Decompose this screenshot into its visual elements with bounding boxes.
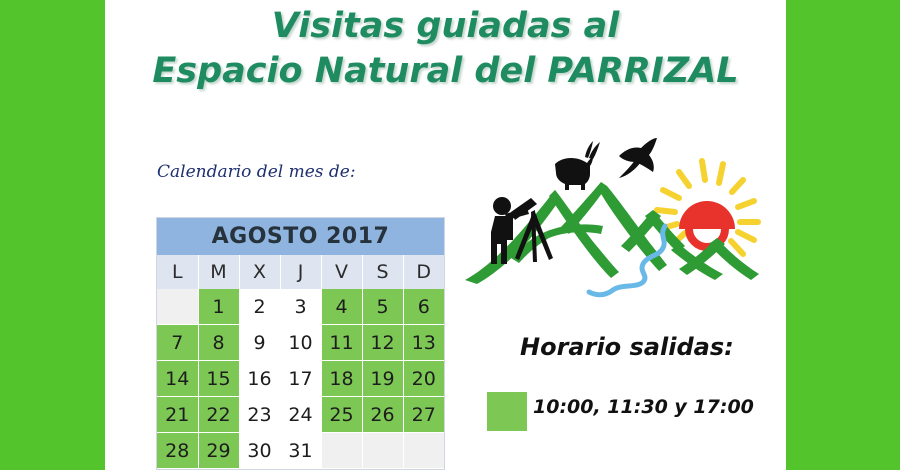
calendar-day-cell[interactable]: 18 xyxy=(321,361,362,397)
calendar-day-cell[interactable]: 20 xyxy=(403,361,444,397)
right-green-border xyxy=(786,0,900,470)
calendar-day-cell: 9 xyxy=(239,325,280,361)
title-line-2: Espacio Natural del PARRIZAL xyxy=(105,49,786,94)
calendar-caption: Calendario del mes de: xyxy=(157,162,356,182)
calendar-day-cell: 2 xyxy=(239,289,280,325)
calendar-title-row: AGOSTO 2017 xyxy=(157,218,444,255)
calendar-day-cell: 30 xyxy=(239,433,280,469)
calendar-day-cell: 17 xyxy=(280,361,321,397)
calendar-week-row: 1 2 3 4 5 6 xyxy=(157,289,444,325)
schedule-times: 10:00, 11:30 y 17:00 xyxy=(533,396,754,418)
weekday-header-s: S xyxy=(362,255,403,289)
calendar-day-cell[interactable]: 22 xyxy=(198,397,239,433)
title-line-1: Visitas guiadas al xyxy=(105,4,786,49)
calendar-day-cell[interactable]: 29 xyxy=(198,433,239,469)
calendar-day-cell[interactable]: 14 xyxy=(157,361,198,397)
calendar-week-row: 14 15 16 17 18 19 20 xyxy=(157,361,444,397)
calendar-week-row: 28 29 30 31 xyxy=(157,433,444,469)
calendar-day-cell[interactable]: 7 xyxy=(157,325,198,361)
calendar-day-cell: 3 xyxy=(280,289,321,325)
weekday-header-j: J xyxy=(280,255,321,289)
calendar-day-cell[interactable]: 11 xyxy=(321,325,362,361)
calendar-day-cell[interactable]: 1 xyxy=(198,289,239,325)
calendar-day-cell[interactable]: 4 xyxy=(321,289,362,325)
calendar-day-cell xyxy=(362,433,403,469)
calendar-day-cell[interactable]: 19 xyxy=(362,361,403,397)
calendar-weekday-row: L M X J V S D xyxy=(157,255,444,289)
calendar-day-cell xyxy=(157,289,198,325)
poster-content: Visitas guiadas al Espacio Natural del P… xyxy=(105,0,786,470)
calendar-day-cell[interactable]: 15 xyxy=(198,361,239,397)
calendar-day-cell: 24 xyxy=(280,397,321,433)
calendar-day-cell xyxy=(403,433,444,469)
ibex-icon xyxy=(555,141,600,190)
calendar-day-cell: 16 xyxy=(239,361,280,397)
calendar-week-row: 7 8 9 10 11 12 13 xyxy=(157,325,444,361)
calendar-day-cell: 31 xyxy=(280,433,321,469)
calendar-day-cell[interactable]: 21 xyxy=(157,397,198,433)
bird-icon xyxy=(619,138,657,178)
nature-illustration xyxy=(457,128,777,303)
weekday-header-l: L xyxy=(157,255,198,289)
calendar-week-row: 21 22 23 24 25 26 27 xyxy=(157,397,444,433)
calendar-day-cell[interactable]: 26 xyxy=(362,397,403,433)
calendar-day-cell[interactable]: 5 xyxy=(362,289,403,325)
calendar-day-cell[interactable]: 25 xyxy=(321,397,362,433)
legend-green-swatch xyxy=(487,392,527,431)
calendar-table: AGOSTO 2017 L M X J V S D 1 2 3 4 xyxy=(157,218,444,469)
weekday-header-m: M xyxy=(198,255,239,289)
calendar-day-cell: 23 xyxy=(239,397,280,433)
calendar-day-cell[interactable]: 8 xyxy=(198,325,239,361)
calendar-day-cell[interactable]: 28 xyxy=(157,433,198,469)
weekday-header-v: V xyxy=(321,255,362,289)
schedule-title: Horario salidas: xyxy=(520,333,734,361)
calendar-day-cell xyxy=(321,433,362,469)
calendar-day-cell: 10 xyxy=(280,325,321,361)
poster-canvas: Visitas guiadas al Espacio Natural del P… xyxy=(0,0,900,470)
calendar-day-cell[interactable]: 13 xyxy=(403,325,444,361)
calendar-day-cell[interactable]: 27 xyxy=(403,397,444,433)
weekday-header-d: D xyxy=(403,255,444,289)
calendar-day-cell[interactable]: 12 xyxy=(362,325,403,361)
left-green-border xyxy=(0,0,105,470)
calendar-day-cell[interactable]: 6 xyxy=(403,289,444,325)
page-title: Visitas guiadas al Espacio Natural del P… xyxy=(105,4,786,94)
calendar-month-title: AGOSTO 2017 xyxy=(157,218,444,255)
weekday-header-x: X xyxy=(239,255,280,289)
